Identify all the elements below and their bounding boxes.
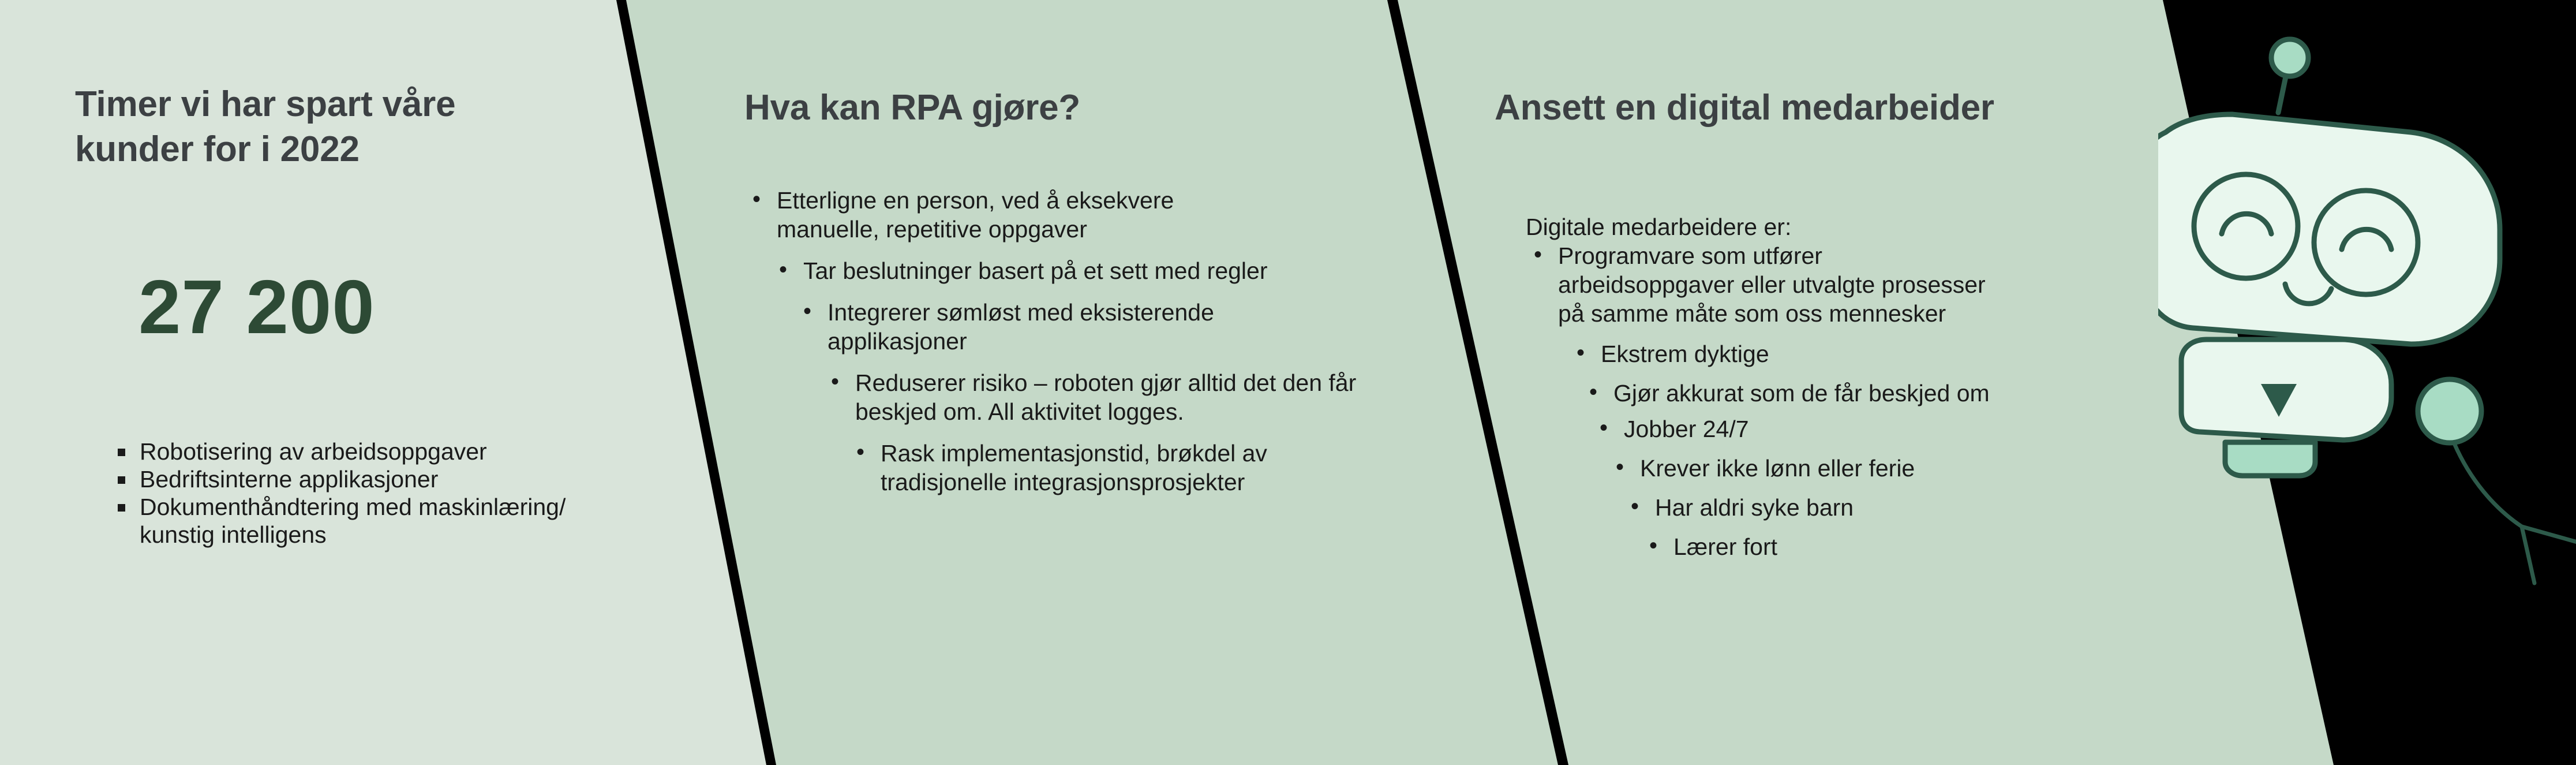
antenna-stalk	[2278, 74, 2286, 113]
antenna-ball	[2271, 39, 2308, 76]
panel-2-content: Hva kan RPA gjøre? Etterligne en person,…	[744, 0, 1368, 765]
list-item: Ekstrem dyktige	[1568, 339, 2088, 368]
robot-eye-right	[2314, 191, 2418, 294]
list-item: Krever ikke lønn eller ferie	[1608, 454, 2127, 483]
robot-arm-branch-right	[2522, 527, 2576, 543]
list-item: Integrerer sømløst med eksisterende appl…	[795, 298, 1332, 356]
list-item: Etterligne en person, ved å eksekvere ma…	[744, 186, 1281, 244]
list-item: Gjør akkurat som de får beskjed om	[1581, 379, 2101, 408]
rpa-capability-list: Etterligne en person, ved å eksekvere ma…	[744, 186, 1368, 509]
digital-worker-list: Programvare som utfører arbeidsoppgaver …	[1495, 241, 2170, 561]
list-item: Lærer fort	[1641, 532, 2161, 561]
robot-arm-branch-down	[2522, 527, 2534, 583]
robot-eye-left	[2194, 174, 2298, 278]
slide-canvas: Timer vi har spart våre kunder for i 202…	[0, 0, 2576, 765]
panel-1-content: Timer vi har spart våre kunder for i 202…	[75, 0, 606, 765]
list-item: Bedriftsinterne applikasjoner	[108, 465, 593, 493]
list-item: Reduserer risiko – roboten gjør alltid d…	[823, 368, 1360, 426]
robot-mascot-illustration	[2158, 0, 2576, 765]
digital-worker-intro-text: Digitale medarbeidere er:	[1526, 212, 1791, 241]
list-item: Har aldri syke barn	[1623, 493, 2142, 522]
page-title-hours-saved: Timer vi har spart våre kunder for i 202…	[75, 82, 583, 172]
robot-base	[2225, 442, 2315, 476]
list-item: Jobber 24/7	[1592, 415, 2111, 443]
robot-hand-ball	[2418, 379, 2481, 443]
list-item: Rask implementasjonstid, brøkdel av trad…	[848, 439, 1385, 497]
page-title-hire-digital-worker: Ansett en digital medarbeider	[1495, 85, 1994, 130]
stat-value-hours-saved: 27 200	[138, 267, 375, 348]
robot-arm-line	[2454, 443, 2522, 527]
list-item: Robotisering av arbeidsoppgaver	[108, 438, 593, 465]
list-item: Dokumenthåndtering med maskinlæring/ kun…	[108, 493, 593, 548]
panel-3-content: Ansett en digital medarbeider Digitale m…	[1495, 0, 2170, 765]
page-title-what-rpa-can-do: Hva kan RPA gjøre?	[744, 85, 1080, 130]
list-item: Tar beslutninger basert på et sett med r…	[771, 256, 1308, 285]
capability-list: Robotisering av arbeidsoppgaver Bedrifts…	[108, 438, 593, 548]
list-item: Programvare som utfører arbeidsoppgaver …	[1526, 241, 1999, 328]
